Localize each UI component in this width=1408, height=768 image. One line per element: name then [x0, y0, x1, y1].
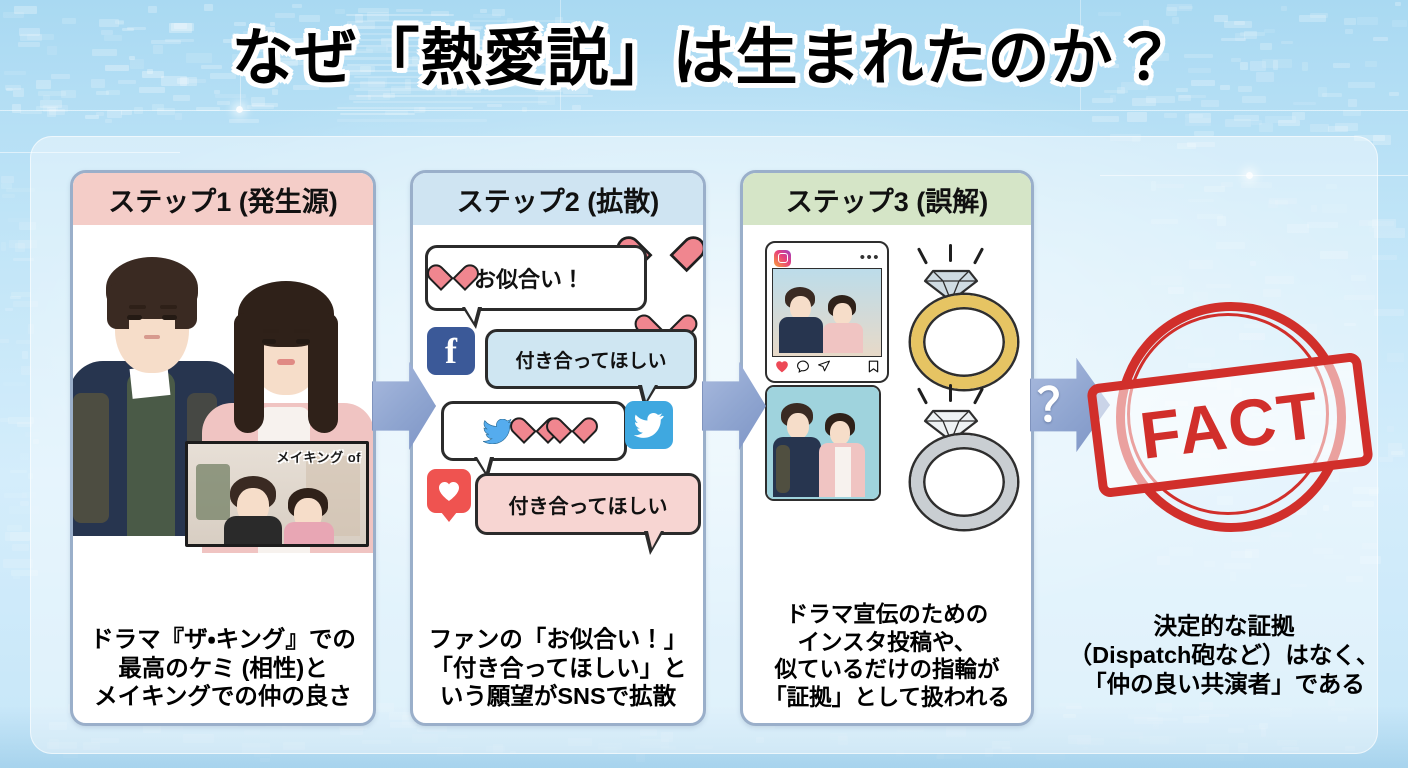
- bg-data-bar: [1343, 110, 1361, 116]
- couple-illustration: メイキング of: [73, 225, 373, 625]
- bg-data-bar: [1388, 449, 1405, 457]
- instagram-photo: [772, 268, 882, 357]
- bg-data-bar: [1389, 92, 1399, 96]
- bg-data-bar: [2, 194, 15, 199]
- bg-data-bar: [38, 91, 65, 96]
- bg-data-bar: [5, 308, 13, 312]
- instagram-action-bar: [772, 357, 882, 376]
- bg-data-bar: [1185, 118, 1211, 126]
- couple-photo-card: [765, 385, 881, 501]
- bg-data-bar: [7, 525, 22, 531]
- bg-data-bar: [1166, 7, 1177, 15]
- bg-data-bar: [1335, 123, 1358, 132]
- twitter-icon: [625, 401, 673, 449]
- bg-data-bar: [1374, 228, 1405, 238]
- bg-data-bar: [0, 339, 9, 343]
- bg-data-bar: [1, 176, 14, 183]
- speech-bubble-oniai: お似合い！: [425, 245, 647, 311]
- bubble-text: 付き合ってほしい: [515, 346, 666, 373]
- bg-data-bar: [204, 4, 213, 11]
- comment-icon[interactable]: [796, 360, 810, 373]
- caption-line: 「証拠」として扱われる: [749, 684, 1025, 711]
- bg-data-bar: [1098, 12, 1121, 17]
- caption-line: ドラマ宣伝のための: [749, 601, 1025, 628]
- bubble-tail-inner: [477, 457, 490, 472]
- bg-data-bar: [10, 296, 21, 299]
- bg-data-bar: [1373, 135, 1391, 145]
- caption-line: いう願望がSNSで拡散: [419, 682, 697, 711]
- bg-data-bar: [1310, 13, 1327, 18]
- speech-bubble-twitter-hearts: [441, 401, 627, 461]
- bg-data-bar: [299, 15, 320, 22]
- bg-data-bar: [1110, 95, 1116, 102]
- bg-data-bar: [1201, 100, 1219, 106]
- step-1-illustration: メイキング of: [73, 225, 373, 625]
- question-mark-label: ？: [1037, 382, 1083, 428]
- step-2-header: ステップ2 (拡散): [413, 173, 703, 225]
- bg-data-bar: [1, 242, 6, 251]
- bg-data-bar: [134, 107, 143, 115]
- step-1-caption: ドラマ『ザ・キング』での 最高のケミ (相性)と メイキングでの仲の良さ: [73, 625, 373, 723]
- caption-line: インスタ投稿や、: [749, 629, 1025, 656]
- share-icon[interactable]: [817, 360, 831, 373]
- bg-data-bar: [1348, 99, 1357, 108]
- bg-data-bar: [62, 18, 75, 24]
- bg-data-bar: [522, 107, 527, 112]
- instagram-post-card: •••: [765, 241, 889, 383]
- bg-data-bar: [1310, 124, 1329, 132]
- step-1-header: ステップ1 (発生源): [73, 173, 373, 225]
- bg-data-bar: [0, 418, 8, 422]
- twitter-bird-glyph: [634, 413, 664, 438]
- step-3-evidence-illustration: •••: [743, 225, 1031, 601]
- bg-data-bar: [396, 9, 423, 13]
- caption-line: 「仲の良い共演者」である: [1050, 670, 1398, 699]
- bg-data-bar: [107, 110, 123, 118]
- fact-stamp-text: FACT: [1136, 376, 1324, 473]
- bg-data-bar: [115, 20, 125, 25]
- bg-data-bar: [13, 576, 20, 579]
- bg-data-bar: [1092, 116, 1120, 122]
- bg-data-bar: [1164, 113, 1176, 118]
- bg-circuit-node: [236, 106, 243, 113]
- bg-data-bar: [1379, 457, 1393, 462]
- bg-data-bar: [36, 106, 58, 111]
- bg-data-bar: [96, 112, 104, 116]
- bg-data-bar: [1374, 309, 1404, 316]
- bg-text-line: [337, 107, 473, 109]
- bubble-text: 付き合ってほしい: [509, 490, 668, 519]
- bg-data-bar: [1127, 112, 1148, 122]
- bg-data-bar: [1185, 114, 1203, 118]
- bg-data-bar: [106, 90, 120, 95]
- speech-bubble-tsukiatte-blue: 付き合ってほしい: [485, 329, 697, 389]
- bg-data-bar: [1293, 102, 1316, 106]
- bg-data-bar: [1234, 21, 1245, 25]
- bg-data-bar: [1344, 18, 1357, 25]
- bg-data-bar: [215, 94, 246, 98]
- bg-data-bar: [229, 119, 259, 122]
- bg-text-line: [346, 14, 454, 16]
- caption-line: 決定的な証拠: [1050, 612, 1398, 641]
- bg-data-bar: [22, 351, 28, 360]
- silver-diamond-ring-icon: [899, 387, 1003, 507]
- bg-data-bar: [487, 104, 502, 108]
- bg-data-bar: [15, 243, 25, 252]
- bg-data-bar: [217, 101, 230, 105]
- bg-data-bar: [572, 105, 580, 109]
- caption-line: メイキングでの仲の良さ: [79, 682, 367, 711]
- step-2-sns-illustration: お似合い！ f 付き合ってほしい: [413, 225, 703, 625]
- instagram-card-header: •••: [772, 248, 882, 268]
- bubble-tail-inner: [465, 307, 478, 322]
- bg-data-bar: [43, 95, 50, 99]
- bg-data-bar: [148, 6, 157, 12]
- step-panel-3: ステップ3 (誤解) •••: [740, 170, 1034, 726]
- gold-diamond-ring-icon: [899, 247, 1003, 367]
- bg-text-line: [337, 119, 488, 121]
- bubble-tail-inner: [642, 385, 655, 401]
- bg-data-bar: [1388, 443, 1402, 449]
- caption-line: （Dispatch砲など）はなく、: [1050, 641, 1398, 670]
- bg-data-bar: [1132, 98, 1156, 106]
- caption-line: ドラマ『ザ・キング』での: [79, 625, 367, 654]
- heart-icon: [440, 266, 466, 290]
- bg-text-line: [356, 95, 593, 97]
- caption-line: 「付き合ってほしい」と: [419, 654, 697, 683]
- step-2-caption: ファンの「お似合い！」 「付き合ってほしい」と いう願望がSNSで拡散: [413, 625, 703, 723]
- making-of-label: メイキング of: [277, 447, 362, 466]
- step-panel-2: ステップ2 (拡散) お似合い！ f 付き合ってほしい: [410, 170, 706, 726]
- caption-line: 似ているだけの指輪が: [749, 656, 1025, 683]
- bookmark-icon[interactable]: [868, 360, 879, 373]
- bg-data-bar: [275, 13, 295, 18]
- bg-data-bar: [152, 104, 164, 111]
- bg-data-bar: [1392, 20, 1406, 28]
- bg-data-bar: [247, 105, 274, 109]
- caption-line: ファンの「お似合い！」: [419, 625, 697, 654]
- speech-bubble-tsukiatte-pink: 付き合ってほしい: [475, 473, 701, 535]
- bg-data-bar: [105, 119, 112, 123]
- bg-data-bar: [16, 340, 31, 344]
- bg-data-bar: [1387, 426, 1394, 432]
- bg-data-bar: [335, 9, 345, 15]
- bg-data-bar: [20, 453, 28, 460]
- bg-data-bar: [5, 532, 29, 541]
- like-heart-badge-icon: [427, 469, 471, 513]
- bg-data-bar: [1242, 96, 1267, 103]
- facebook-icon: f: [427, 327, 475, 375]
- caption-line: 最高のケミ (相性)と: [79, 654, 367, 683]
- bg-data-bar: [1387, 353, 1403, 362]
- bg-data-bar: [1172, 17, 1179, 24]
- bg-text-line: [353, 101, 547, 103]
- bg-data-bar: [10, 470, 27, 473]
- bg-data-bar: [292, 4, 303, 8]
- bg-data-bar: [1179, 95, 1205, 98]
- bg-data-bar: [3, 559, 33, 568]
- bg-data-bar: [480, 9, 487, 13]
- bg-data-bar: [12, 544, 29, 551]
- bg-data-bar: [1281, 6, 1287, 10]
- page-title: なぜ「熱愛説」は生まれたのか？: [0, 28, 1408, 90]
- bg-data-bar: [473, 14, 501, 18]
- step-3-header: ステップ3 (誤解): [743, 173, 1031, 225]
- bg-data-bar: [1357, 17, 1377, 25]
- bg-data-bar: [196, 107, 220, 111]
- bg-data-bar: [3, 382, 26, 386]
- bg-data-bar: [173, 95, 190, 101]
- like-icon[interactable]: [775, 360, 789, 373]
- fact-stamp: FACT: [1098, 296, 1350, 536]
- fact-caption: 決定的な証拠 （Dispatch砲など）はなく、 「仲の良い共演者」である: [1050, 612, 1398, 699]
- bubble-tail-inner: [648, 531, 661, 548]
- bg-data-bar: [1265, 116, 1295, 123]
- bg-data-bar: [8, 218, 30, 222]
- step-3-caption: ドラマ宣伝のための インスタ投稿や、 似ているだけの指輪が 「証拠」として扱われ…: [743, 601, 1031, 723]
- bg-data-bar: [14, 6, 38, 14]
- step-panel-1: ステップ1 (発生源): [70, 170, 376, 726]
- bg-data-bar: [20, 111, 42, 115]
- heart-icon: [559, 419, 585, 443]
- bg-data-bar: [1395, 2, 1402, 6]
- heart-icon: [523, 419, 549, 443]
- bg-data-bar: [1251, 120, 1263, 124]
- bg-data-bar: [121, 110, 131, 114]
- instagram-icon: [774, 250, 791, 267]
- making-of-photo-inset: メイキング of: [185, 441, 369, 547]
- bubble-text: お似合い！: [474, 262, 584, 294]
- bg-data-bar: [175, 113, 182, 120]
- twitter-bird-icon: [483, 419, 513, 444]
- heart-glyph: [437, 480, 461, 502]
